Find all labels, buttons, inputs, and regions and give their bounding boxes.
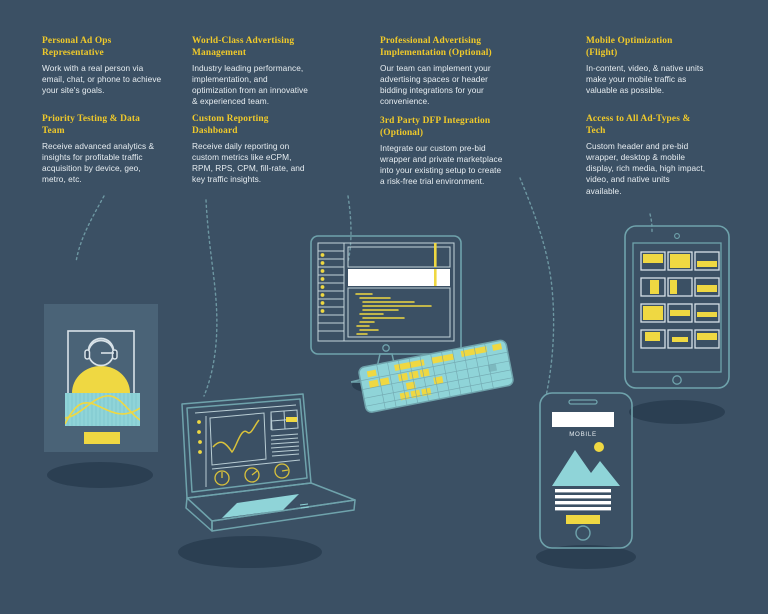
connector-dotted-lines bbox=[76, 178, 652, 396]
feature-title: Priority Testing & Data Team bbox=[42, 114, 164, 137]
feature-body: Custom header and pre-bid wrapper, deskt… bbox=[586, 141, 706, 196]
feature-body: Integrate our custom pre-bid wrapper and… bbox=[380, 143, 504, 187]
feature-body: Industry leading performance, implementa… bbox=[192, 63, 310, 107]
keyboard bbox=[358, 339, 514, 413]
laptop-screen-content bbox=[195, 405, 309, 518]
feature-title: 3rd Party DFP Integration (Optional) bbox=[380, 116, 504, 139]
feature-body: Our team can implement your advertising … bbox=[380, 63, 504, 107]
feature-title: Personal Ad Ops Representative bbox=[42, 36, 164, 59]
tablet-ad-units-grid bbox=[625, 226, 729, 388]
mobile-phone-ad-preview bbox=[540, 393, 632, 548]
phone-screen-label: MOBILE bbox=[569, 431, 597, 438]
feature-mobile-optimization-flight: Mobile Optimization (Flight) In-content,… bbox=[586, 36, 706, 96]
desktop-monitor-code-editor bbox=[311, 236, 461, 382]
feature-title: Mobile Optimization (Flight) bbox=[586, 36, 706, 59]
feature-third-party-dfp-integration: 3rd Party DFP Integration (Optional) Int… bbox=[380, 116, 504, 188]
feature-world-class-advertising-management: World-Class Advertising Management Indus… bbox=[192, 36, 310, 108]
feature-priority-testing-data-team: Priority Testing & Data Team Receive adv… bbox=[42, 114, 164, 186]
feature-professional-advertising-implementation: Professional Advertising Implementation … bbox=[380, 36, 504, 108]
feature-body: Receive advanced analytics & insights fo… bbox=[42, 141, 164, 185]
feature-title: Access to All Ad-Types & Tech bbox=[586, 114, 706, 137]
support-representative-card bbox=[44, 304, 158, 452]
feature-body: Work with a real person via email, chat,… bbox=[42, 63, 164, 96]
feature-body: In-content, video, & native units make y… bbox=[586, 63, 706, 96]
feature-custom-reporting-dashboard: Custom Reporting Dashboard Receive daily… bbox=[192, 114, 310, 186]
feature-title: Professional Advertising Implementation … bbox=[380, 36, 504, 59]
feature-title: World-Class Advertising Management bbox=[192, 36, 310, 59]
feature-personal-ad-ops-representative: Personal Ad Ops Representative Work with… bbox=[42, 36, 164, 96]
laptop-reporting-dashboard bbox=[182, 394, 355, 531]
device-shadows bbox=[47, 373, 725, 569]
infographic-canvas: MOBILE bbox=[0, 0, 768, 614]
feature-body: Receive daily reporting on custom metric… bbox=[192, 141, 310, 185]
feature-access-to-all-ad-types-tech: Access to All Ad-Types & Tech Custom hea… bbox=[586, 114, 706, 197]
feature-title: Custom Reporting Dashboard bbox=[192, 114, 310, 137]
